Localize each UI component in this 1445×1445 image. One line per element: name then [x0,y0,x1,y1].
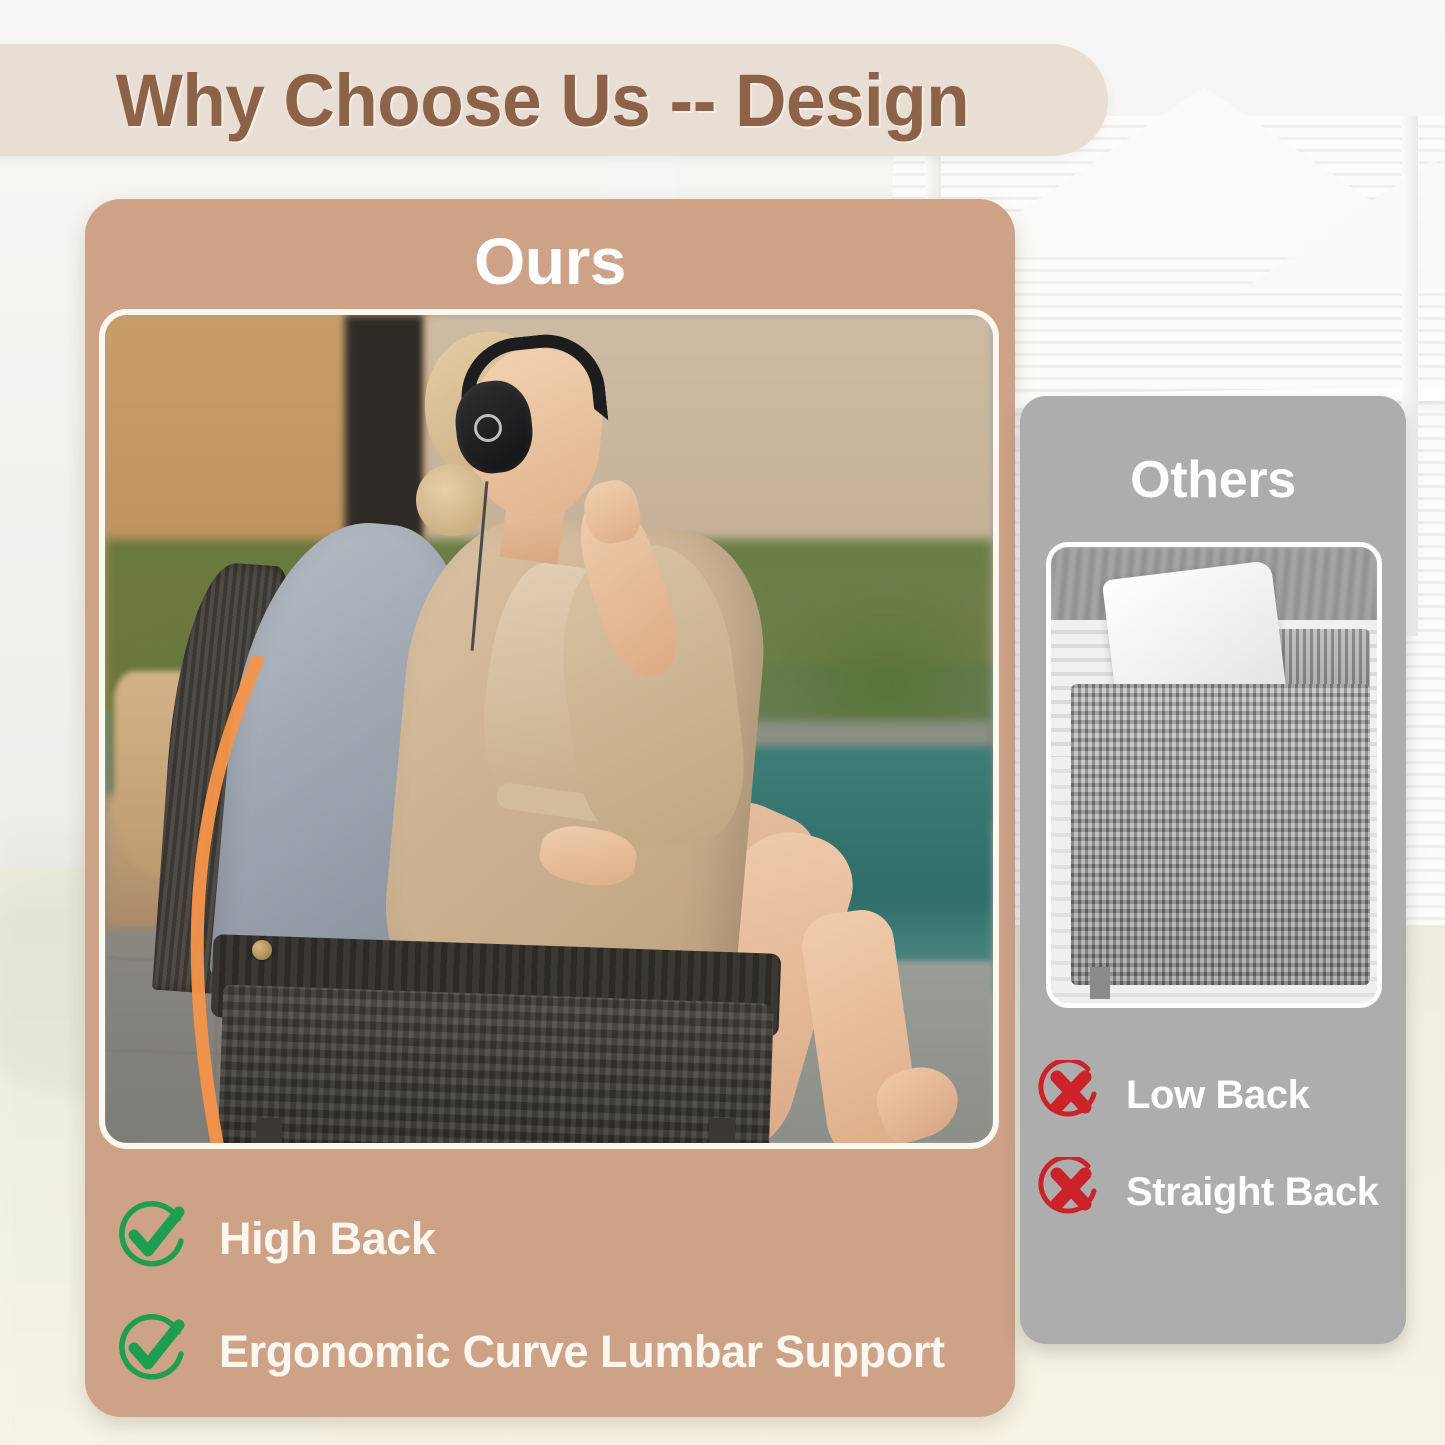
cross-circle-icon [1038,1157,1104,1228]
others-panel: Others Low Back [1020,396,1406,1344]
model-hair-bun [416,464,488,536]
page-title: Why Choose Us -- Design [115,58,968,143]
chair-armrest-weave [217,984,774,1149]
others-feature-list: Low Back Straight Back [1038,1060,1396,1254]
others-panel-title: Others [1020,450,1406,510]
others-product-photo [1046,542,1382,1008]
list-item-label: Straight Back [1126,1170,1379,1215]
list-item: High Back [115,1199,989,1278]
others-sofa-body [1071,684,1371,985]
check-circle-icon [115,1199,189,1278]
list-item-label: Ergonomic Curve Lumbar Support [219,1326,945,1378]
header-banner: Why Choose Us -- Design [0,44,1108,156]
list-item-label: High Back [219,1213,435,1265]
list-item-label: Low Back [1126,1073,1310,1118]
ours-panel: Ours [85,199,1015,1417]
headphone-logo-icon [474,414,502,442]
ours-product-photo [99,309,999,1149]
infographic-canvas: Why Choose Us -- Design Ours [0,0,1445,1445]
check-circle-icon [115,1312,189,1391]
chair-bolt-icon [252,940,272,960]
chair-leg-front [256,1118,282,1149]
others-sofa-leg [1090,967,1110,999]
cross-circle-icon [1038,1060,1104,1131]
list-item: Low Back [1038,1060,1396,1131]
ours-panel-title: Ours [85,223,1015,299]
list-item: Straight Back [1038,1157,1396,1228]
ours-feature-list: High Back Ergonomic Curve Lumbar Support [115,1199,989,1425]
chair-leg-back [709,1118,735,1149]
list-item: Ergonomic Curve Lumbar Support [115,1312,989,1391]
